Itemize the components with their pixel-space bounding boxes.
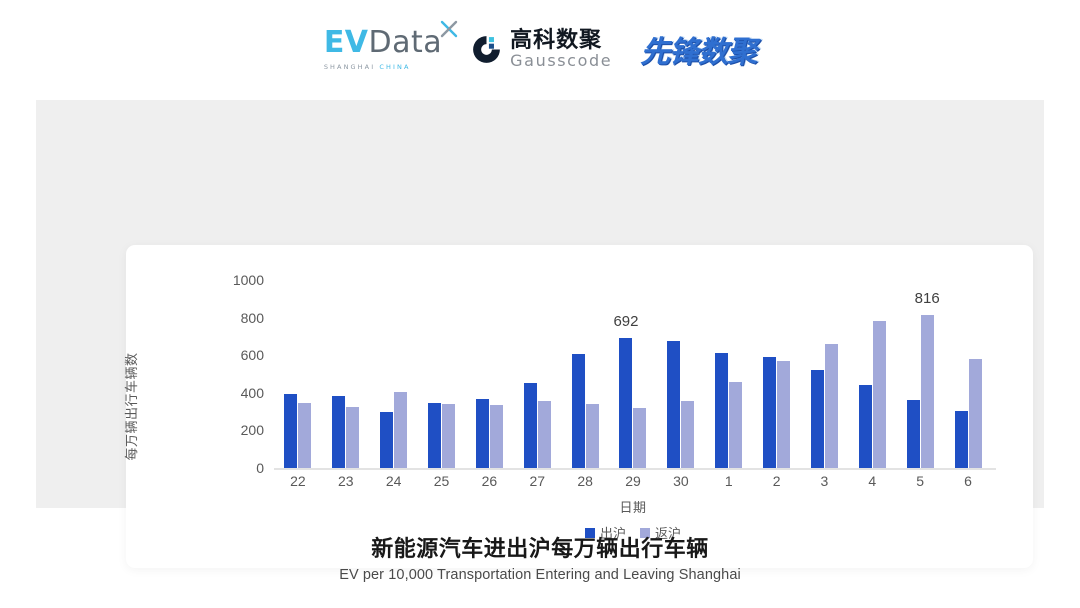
bar[interactable] bbox=[907, 400, 920, 468]
chart-card: 每万辆出行车辆数 02004006008001000 692816 222324… bbox=[126, 245, 1033, 568]
bar[interactable] bbox=[633, 408, 646, 468]
bar[interactable]: 816 bbox=[921, 315, 934, 468]
y-tick-label: 600 bbox=[241, 347, 264, 363]
evdata-rest: Data bbox=[369, 25, 443, 60]
logo-gausscode: 高科数聚 Gausscode bbox=[470, 30, 612, 69]
bar-group bbox=[944, 280, 992, 468]
gausscode-cn-name: 高科数聚 bbox=[510, 30, 612, 52]
bar-group bbox=[753, 280, 801, 468]
x-tick-label: 25 bbox=[434, 473, 450, 489]
bar[interactable] bbox=[586, 404, 599, 468]
bar-group bbox=[322, 280, 370, 468]
x-tick-label: 28 bbox=[577, 473, 593, 489]
bar-value-label: 816 bbox=[915, 290, 940, 307]
bar[interactable] bbox=[825, 344, 838, 468]
x-tick-label: 6 bbox=[964, 473, 972, 489]
x-tick-label: 5 bbox=[916, 473, 924, 489]
bar[interactable] bbox=[490, 405, 503, 468]
bar[interactable] bbox=[969, 359, 982, 468]
x-tick-label: 26 bbox=[482, 473, 498, 489]
bar[interactable] bbox=[729, 382, 742, 468]
bar[interactable]: 692 bbox=[619, 338, 632, 468]
evdata-wordmark: EVData bbox=[324, 28, 442, 58]
bar[interactable] bbox=[955, 411, 968, 468]
x-tick-label: 2 bbox=[773, 473, 781, 489]
page-subtitle: EV per 10,000 Transportation Entering an… bbox=[0, 567, 1080, 583]
bar[interactable] bbox=[284, 394, 297, 468]
x-tick-label: 1 bbox=[725, 473, 733, 489]
x-tick-label: 30 bbox=[673, 473, 689, 489]
plot-area: 692816 bbox=[274, 280, 992, 468]
bar-group bbox=[848, 280, 896, 468]
bar[interactable] bbox=[681, 401, 694, 468]
x-tick-label: 3 bbox=[821, 473, 829, 489]
bar[interactable] bbox=[346, 407, 359, 468]
bar-group bbox=[370, 280, 418, 468]
bar-group bbox=[561, 280, 609, 468]
x-tick-label: 22 bbox=[290, 473, 306, 489]
bar[interactable] bbox=[859, 385, 872, 468]
logo-bar: EVData SHANGHAI CHINA 高科数聚 Gausscode 先锋数… bbox=[0, 18, 1080, 80]
evdata-tagline: SHANGHAI CHINA bbox=[324, 63, 411, 71]
bar-group bbox=[513, 280, 561, 468]
bar-group bbox=[418, 280, 466, 468]
bar-value-label: 692 bbox=[613, 313, 638, 330]
page-title: 新能源汽车进出沪每万辆出行车辆 bbox=[0, 531, 1080, 563]
bar[interactable] bbox=[476, 399, 489, 468]
x-axis-line bbox=[274, 468, 996, 470]
x-axis-title: 日期 bbox=[274, 497, 992, 516]
x-cross-icon bbox=[439, 19, 459, 39]
bar[interactable] bbox=[538, 401, 551, 468]
y-tick-label: 200 bbox=[241, 422, 264, 438]
bar[interactable] bbox=[524, 383, 537, 468]
logo-xianfeng: 先锋数聚 bbox=[640, 27, 756, 71]
evdata-prefix: EV bbox=[324, 25, 369, 60]
bar[interactable] bbox=[394, 392, 407, 468]
x-tick-label: 23 bbox=[338, 473, 354, 489]
bar-group bbox=[274, 280, 322, 468]
bar[interactable] bbox=[442, 404, 455, 468]
bar[interactable] bbox=[380, 412, 393, 468]
bar-group bbox=[705, 280, 753, 468]
bar[interactable] bbox=[428, 403, 441, 468]
bar[interactable] bbox=[763, 357, 776, 468]
evdata-tagline-country: CHINA bbox=[379, 63, 410, 71]
x-tick-label: 4 bbox=[868, 473, 876, 489]
y-tick-label: 1000 bbox=[233, 272, 264, 288]
bar[interactable] bbox=[332, 396, 345, 468]
x-tick-label: 24 bbox=[386, 473, 402, 489]
x-axis-ticks: 222324252627282930123456 bbox=[274, 473, 992, 497]
bar[interactable] bbox=[572, 354, 585, 468]
y-tick-label: 0 bbox=[256, 460, 264, 476]
bar-group: 692 bbox=[609, 280, 657, 468]
bar[interactable] bbox=[873, 321, 886, 468]
gausscode-c-mark-icon bbox=[470, 33, 503, 66]
bar-group: 816 bbox=[896, 280, 944, 468]
gausscode-en-name: Gausscode bbox=[510, 53, 612, 69]
bar-group bbox=[465, 280, 513, 468]
y-axis-ticks: 02004006008001000 bbox=[226, 245, 270, 568]
bar[interactable] bbox=[298, 403, 311, 468]
bar-group bbox=[657, 280, 705, 468]
bar-group bbox=[801, 280, 849, 468]
bar[interactable] bbox=[811, 370, 824, 468]
bar[interactable] bbox=[667, 341, 680, 468]
bar[interactable] bbox=[715, 353, 728, 468]
y-axis-title: 每万辆出行车辆数 bbox=[120, 245, 140, 568]
bar[interactable] bbox=[777, 361, 790, 468]
x-tick-label: 29 bbox=[625, 473, 641, 489]
bar-chart: 每万辆出行车辆数 02004006008001000 692816 222324… bbox=[126, 245, 1033, 568]
evdata-tagline-city: SHANGHAI bbox=[324, 63, 375, 71]
y-tick-label: 800 bbox=[241, 310, 264, 326]
x-tick-label: 27 bbox=[529, 473, 545, 489]
logo-evdata: EVData SHANGHAI CHINA bbox=[324, 28, 442, 71]
chart-outer-panel: 每万辆出行车辆数 02004006008001000 692816 222324… bbox=[36, 100, 1044, 508]
y-tick-label: 400 bbox=[241, 385, 264, 401]
